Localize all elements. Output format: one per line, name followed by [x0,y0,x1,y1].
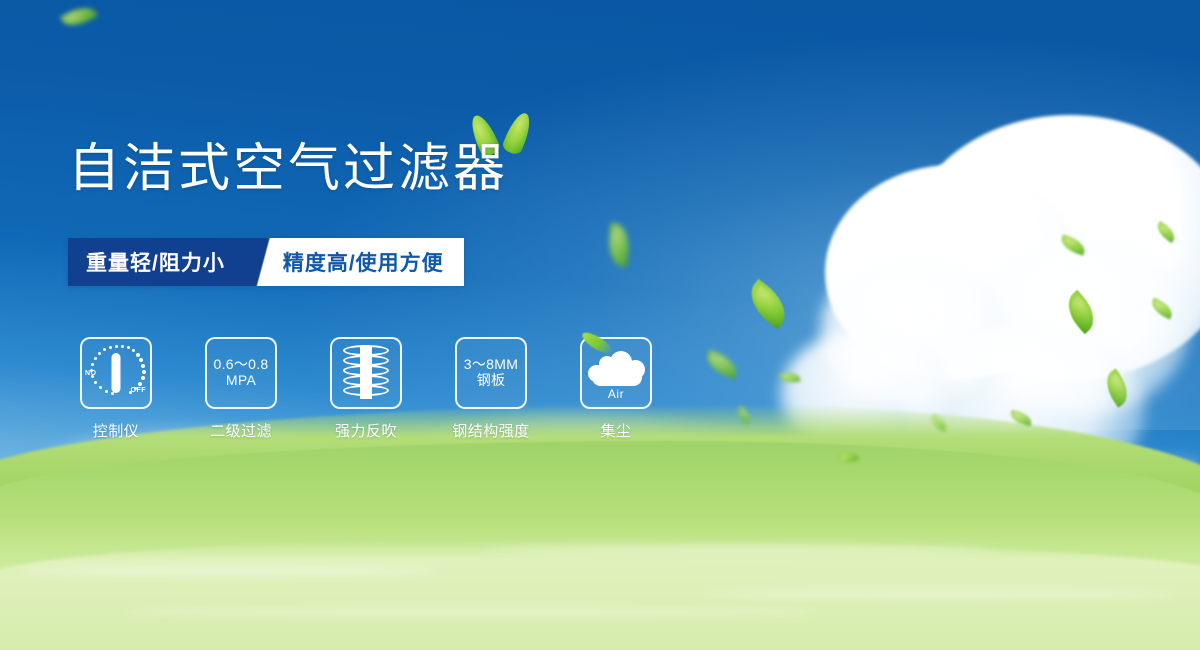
filter-coil-icon [330,337,402,409]
grass-path-streak [120,608,820,616]
page-title: 自洁式空气过滤器 [68,143,508,195]
leaf-beam [579,329,614,357]
cloud-base [592,369,642,386]
steel-thickness: 3～8MM [464,357,518,373]
leaf-icon [741,279,794,329]
subtitle-left-text: 重量轻/阻力小 [68,238,251,286]
subtitle-right-text: 精度高/使用方便 [277,238,464,286]
dial-on-label: NO [85,370,97,377]
feature-item-filter-stage[interactable]: 0.6～0.8 MPA 二级过滤 [197,337,322,441]
dial-off-label: OFF [131,387,147,394]
air-label: Air [586,387,646,401]
cloud-graphic: Air [586,347,646,399]
feature-item-control[interactable]: NO OFF 控制仪 [72,337,197,441]
subtitle-divider [251,238,277,286]
grass-path-streak [700,589,1180,598]
control-dial-icon: NO OFF [80,337,152,409]
pressure-unit: MPA [226,373,256,389]
feature-label: 钢结构强度 [447,420,535,441]
coil-graphic [343,345,389,401]
feature-item-dust[interactable]: Air 集尘 [572,337,697,441]
feature-label: 强力反吹 [322,420,410,441]
grass-path-streak [480,545,1000,554]
feature-label: 控制仪 [72,420,160,441]
leaf-icon [703,349,742,379]
feature-item-backblow[interactable]: 强力反吹 [322,337,447,441]
pressure-value: 0.6～0.8 [213,357,268,373]
feature-label: 集尘 [572,420,660,441]
pressure-text-icon: 0.6～0.8 MPA [205,337,277,409]
product-banner: 自洁式空气过滤器 重量轻/阻力小 精度高/使用方便 [0,0,1200,650]
leaf-icon [60,1,98,32]
subtitle-bar: 重量轻/阻力小 精度高/使用方便 [68,238,464,286]
air-cloud-icon: Air [580,337,652,409]
dial-graphic: NO OFF [85,344,147,402]
steel-material: 钢板 [477,373,506,389]
feature-label: 二级过滤 [197,420,285,441]
feature-item-steel[interactable]: 3～8MM 钢板 钢结构强度 [447,337,572,441]
grass-path-streak [20,566,440,576]
feature-list: NO OFF 控制仪 0.6～0.8 MPA 二级过滤 [72,337,697,441]
dial-needle [112,353,121,393]
leaf-icon [605,223,633,268]
steel-plate-text-icon: 3～8MM 钢板 [455,337,527,409]
